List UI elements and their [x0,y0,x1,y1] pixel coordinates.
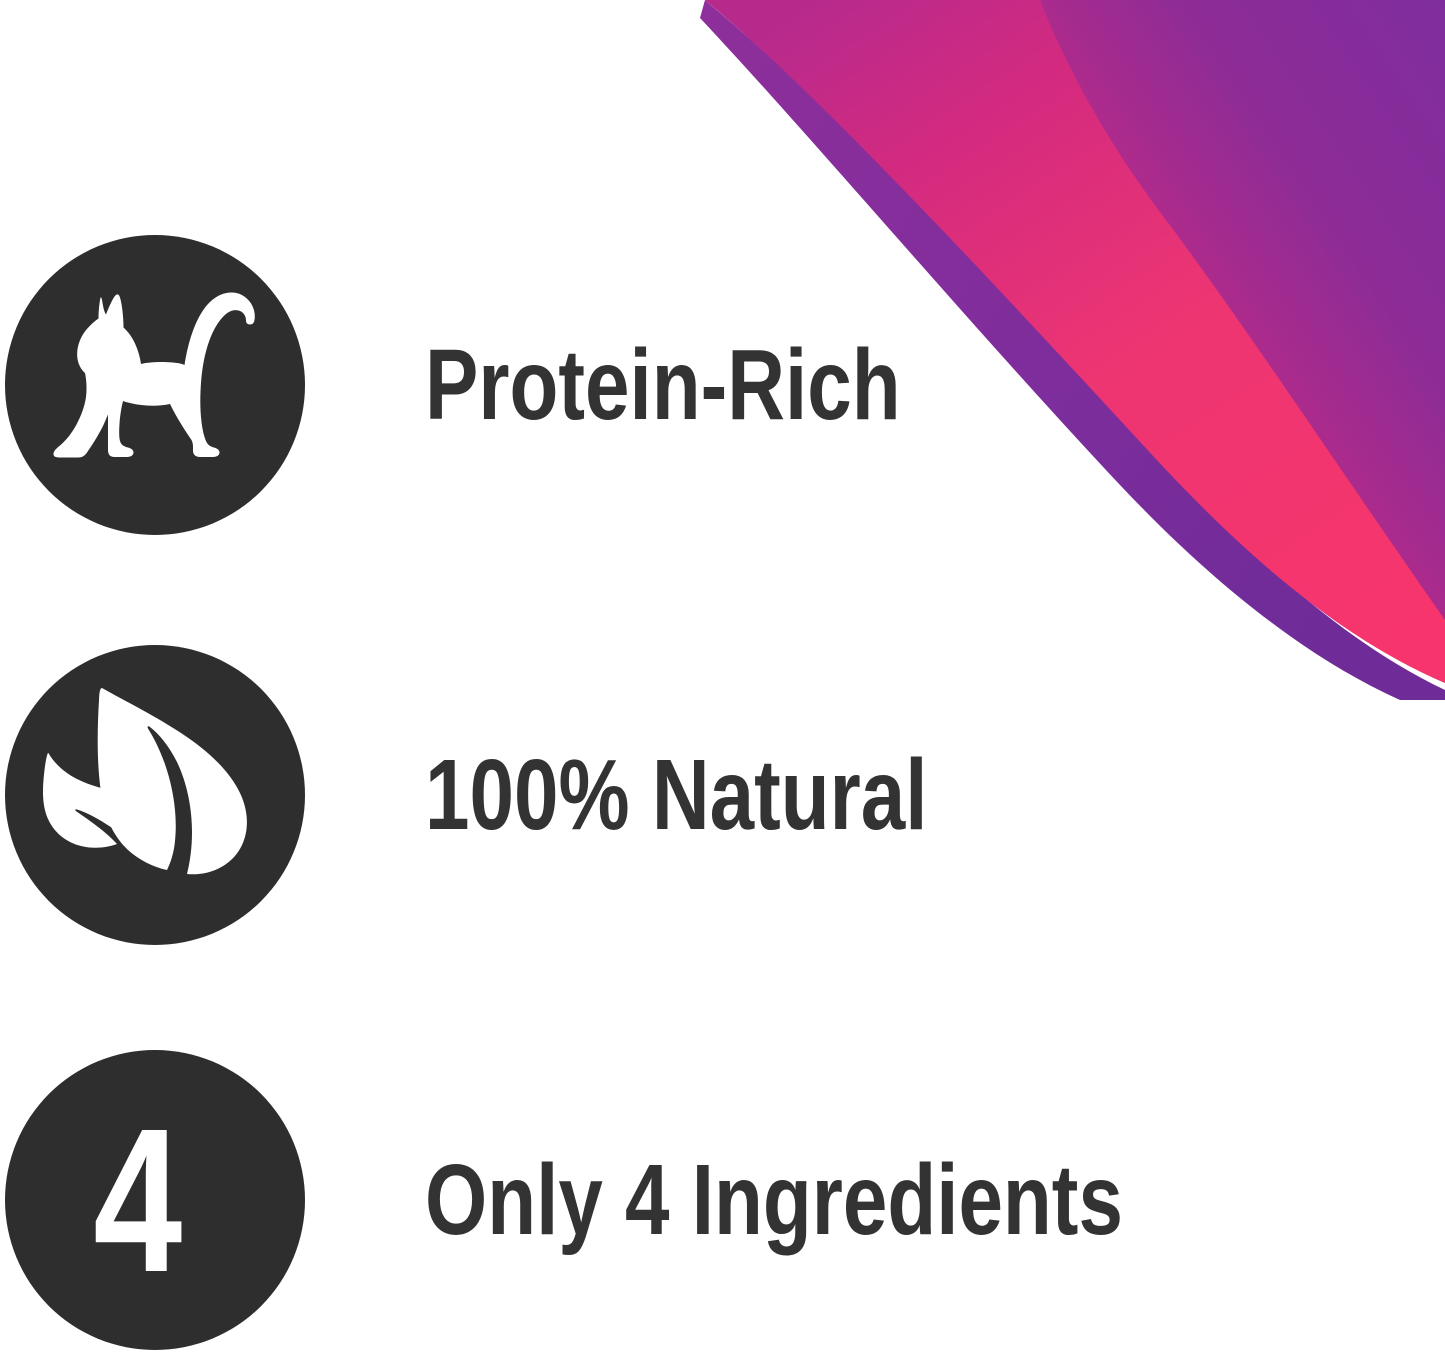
feature-label-protein-rich: Protein-Rich [425,335,901,435]
feature-benefits-panel: Protein-Rich 100% Natural 4 Only 4 Ingre… [0,0,1445,1360]
feature-row-natural: 100% Natural [0,645,1445,945]
number-four-icon: 4 [93,1098,180,1303]
badge-protein-rich [5,235,305,535]
feature-label-natural: 100% Natural [425,745,927,845]
feature-label-ingredients: Only 4 Ingredients [425,1150,1123,1250]
leaf-icon [35,680,275,910]
feature-row-ingredients: 4 Only 4 Ingredients [0,1050,1445,1350]
feature-row-protein-rich: Protein-Rich [0,235,1445,535]
badge-natural [5,645,305,945]
badge-ingredients: 4 [5,1050,305,1350]
cat-icon [43,285,267,485]
